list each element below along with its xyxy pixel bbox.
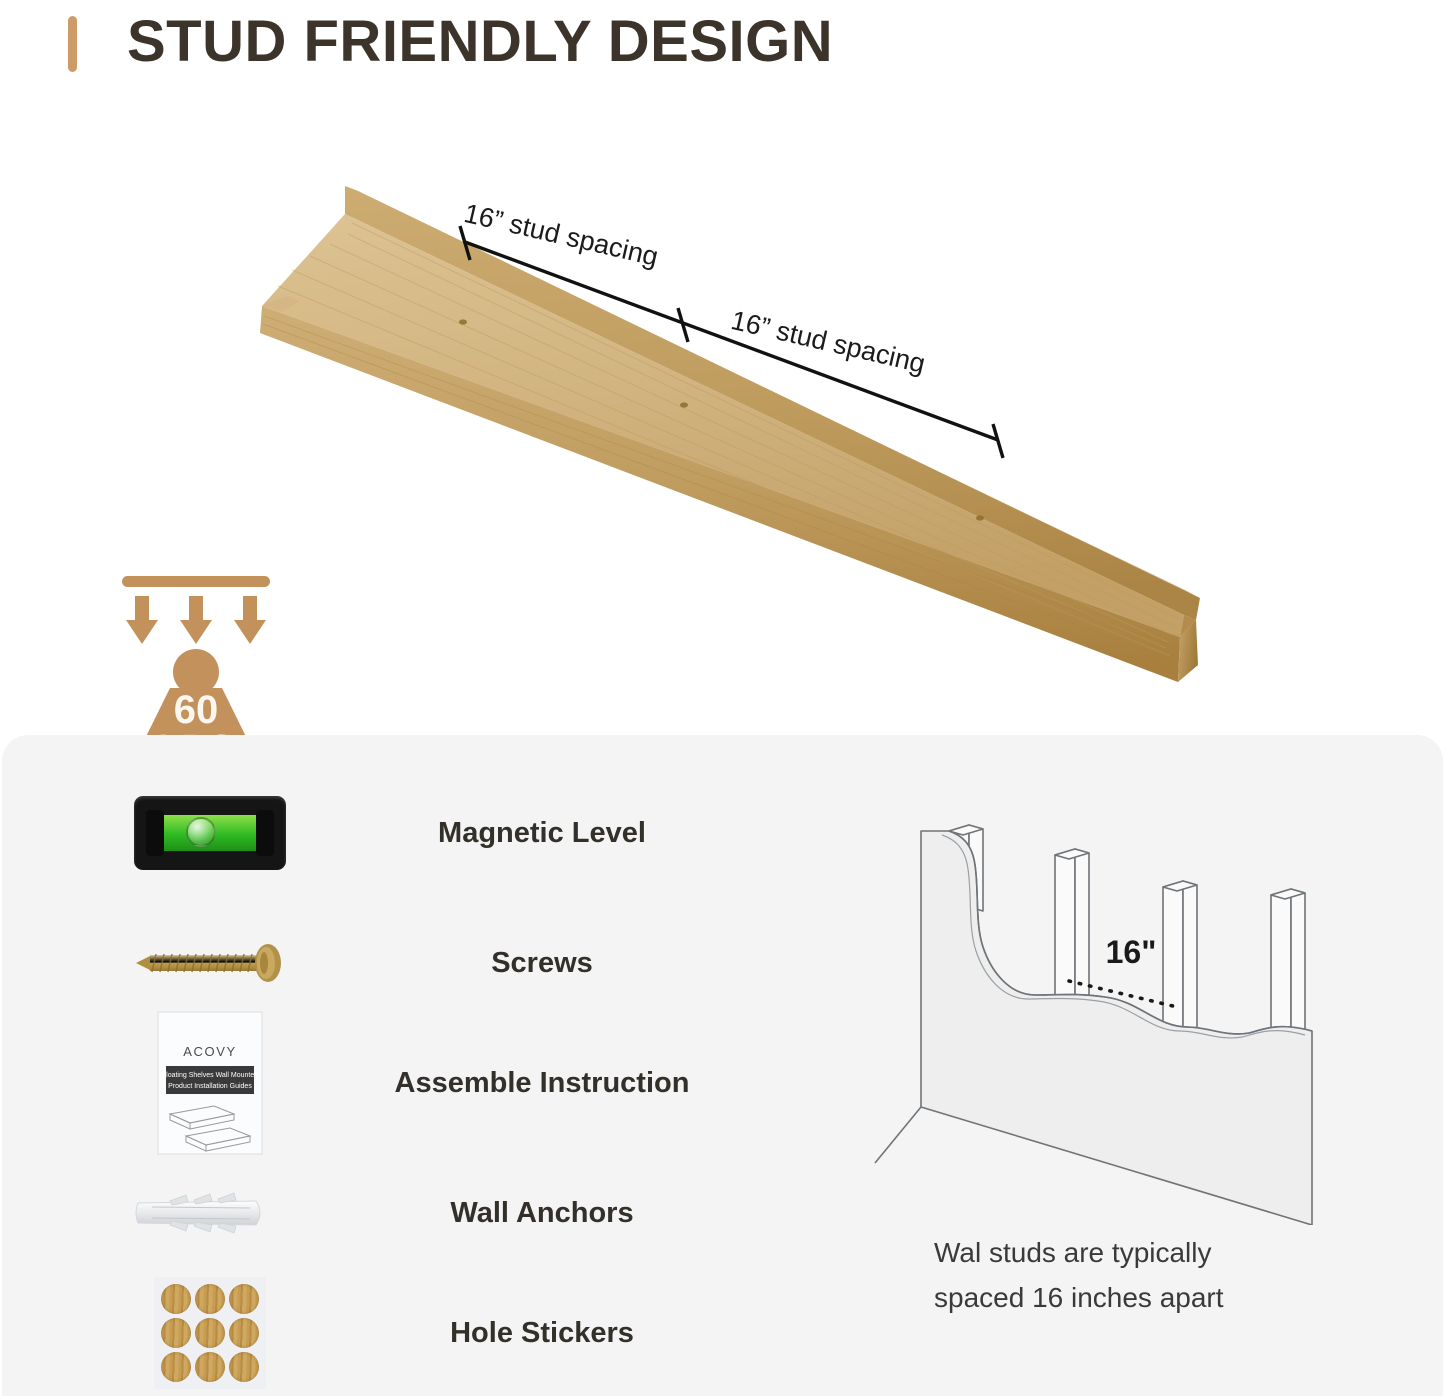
page-title: STUD FRIENDLY DESIGN: [127, 8, 833, 75]
mounting-hole: [680, 402, 688, 407]
list-item: Hole Stickers: [2, 1273, 762, 1393]
hole-sticker-sheet-icon: [130, 1273, 290, 1393]
caption-line-2: spaced 16 inches apart: [934, 1275, 1354, 1320]
page-header: STUD FRIENDLY DESIGN: [0, 0, 1445, 90]
booklet-subtitle-line1: Floating Shelves Wall Mounted: [162, 1072, 258, 1079]
list-item: Magnetic Level: [2, 773, 762, 893]
title-accent-bar: [68, 16, 77, 72]
screw-icon: [130, 903, 290, 1023]
accessory-label: Assemble Instruction: [332, 1023, 752, 1143]
instruction-booklet-icon: ACOVY Floating Shelves Wall Mounted Prod…: [130, 1023, 290, 1143]
booklet-brand: ACOVY: [183, 1044, 237, 1059]
weight-value-text: 60: [174, 688, 219, 732]
accessory-label: Hole Stickers: [332, 1273, 752, 1393]
mounting-hole: [459, 319, 467, 324]
booklet-subtitle-line2: Product Installation Guides: [168, 1083, 252, 1090]
wall-stud-diagram: 16": [857, 795, 1337, 1225]
mounting-hole: [976, 515, 984, 520]
hero-section: 16” stud spacing 16” stud spacing 60 LBS: [0, 90, 1445, 735]
accessories-panel: Magnetic Level: [2, 735, 1443, 1396]
wall-diagram-caption: Wal studs are typically spaced 16 inches…: [934, 1230, 1354, 1321]
wall-anchor-icon: [130, 1153, 290, 1273]
list-item: Screws: [2, 903, 762, 1023]
stud-spacing-dim-label: 16": [1106, 934, 1157, 970]
list-item: Wall Anchors: [2, 1153, 762, 1273]
caption-line-1: Wal studs are typically: [934, 1230, 1354, 1275]
magnetic-level-icon: [130, 773, 290, 893]
accessory-label: Wall Anchors: [332, 1153, 752, 1273]
accessory-label: Screws: [332, 903, 752, 1023]
accessory-label: Magnetic Level: [332, 773, 752, 893]
list-item: ACOVY Floating Shelves Wall Mounted Prod…: [2, 1023, 762, 1143]
